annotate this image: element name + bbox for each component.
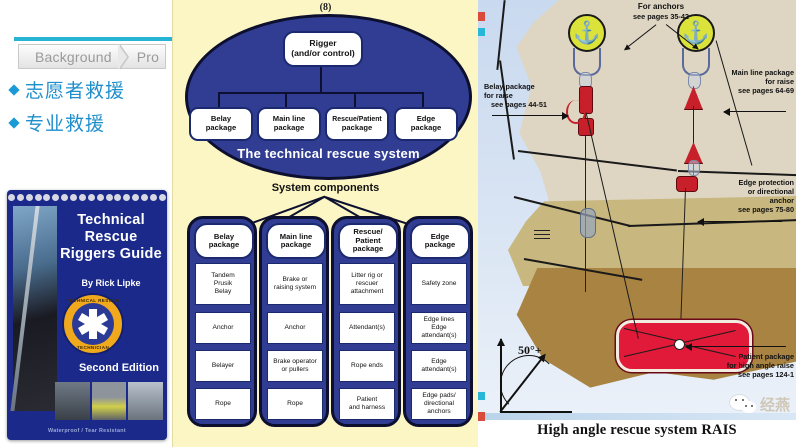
caption-band: High angle rescue system RAIS xyxy=(478,413,796,447)
column-rescue-patient-package: Rescue/ Patient package Litter rig orres… xyxy=(331,216,401,427)
cell: Brake operatoror pullers xyxy=(267,350,323,382)
angle-indicator: 50°+ xyxy=(484,333,576,419)
connector-line xyxy=(218,92,424,94)
cell: Anchor xyxy=(195,312,251,344)
anchor-icon: ⚓ xyxy=(568,14,606,52)
column-head: Belay package xyxy=(194,223,254,259)
color-chip-red xyxy=(478,412,485,421)
badge-bottom-text: TECHNICIAN xyxy=(64,345,122,350)
cell: Rope ends xyxy=(339,350,395,382)
list-item: 志愿者救援 xyxy=(10,76,172,103)
book-cover-image: Technical Rescue Riggers Guide By Rick L… xyxy=(7,190,167,440)
connector-line xyxy=(422,92,424,107)
diamond-bullet-icon xyxy=(8,117,19,128)
book-title-line1: Technical xyxy=(59,212,163,229)
technical-rescue-system-oval: Rigger (and/or control) Belay package Ma… xyxy=(185,14,472,180)
spiral-binding-icon xyxy=(7,192,167,202)
figure-number: (8) xyxy=(173,2,478,13)
cell: Patientand harness xyxy=(339,388,395,420)
wechat-icon xyxy=(730,395,756,414)
cell: Anchor xyxy=(267,312,323,344)
column-head: Main line package xyxy=(266,223,326,259)
node-edge-package: Edge package xyxy=(394,107,458,141)
column-edge-package: Edge package Safety zone Edge linesEdgea… xyxy=(403,216,473,427)
column-head: Edge package xyxy=(410,223,470,259)
node-belay-package: Belay package xyxy=(189,107,253,141)
oval-caption: The technical rescue system xyxy=(188,146,469,161)
diamond-bullet-icon xyxy=(8,84,19,95)
cell: TandemPrusikBelay xyxy=(195,263,251,305)
directional-anchor-icon xyxy=(534,228,550,242)
belay-arrow xyxy=(492,115,568,116)
breadcrumb-label-pro: Pro xyxy=(137,49,159,65)
star-of-life-icon xyxy=(78,309,108,339)
cell: Safety zone xyxy=(411,263,467,305)
main-line-arrow xyxy=(724,111,786,112)
column-head-line3: package xyxy=(353,245,383,254)
breadcrumb-item-background[interactable]: Background xyxy=(18,44,118,69)
label-edge-protection: Edge protection or directional anchor se… xyxy=(684,178,794,214)
bullet-list: 志愿者救援 专业救援 xyxy=(10,76,172,142)
node-label-line2: package xyxy=(206,124,236,133)
belay-rope xyxy=(585,112,586,292)
cell: Rope xyxy=(267,388,323,420)
node-rigger-line2: (and/or control) xyxy=(291,49,355,59)
color-chip-blue xyxy=(478,28,485,36)
book-author: By Rick Lipke xyxy=(59,278,163,288)
connector-line xyxy=(218,92,220,107)
patient-arrow xyxy=(686,346,786,347)
book-footer-text: Waterproof / Tear Resistant xyxy=(7,428,167,434)
book-edition: Second Edition xyxy=(79,362,159,374)
cell: Brake orraising system xyxy=(267,263,323,305)
bullet-text: 志愿者救援 xyxy=(25,76,125,103)
connector-line xyxy=(320,63,322,93)
cell: Edgeattendant(s) xyxy=(411,350,467,382)
connector-line xyxy=(285,92,287,107)
breadcrumb-label-background: Background xyxy=(35,49,112,65)
node-label-line2: package xyxy=(273,124,306,133)
book-cover-photo-left xyxy=(13,206,57,411)
column-main-line-package: Main line package Brake orraising system… xyxy=(259,216,329,427)
node-rescue-patient-package: Rescue/Patient package xyxy=(325,107,389,141)
label-main-line-package: Main line package for raise see pages 64… xyxy=(674,68,794,95)
edge-arrow xyxy=(698,221,782,222)
column-head-line2: package xyxy=(209,241,239,250)
book-title-line2: Rescue xyxy=(59,229,163,246)
book-title: Technical Rescue Riggers Guide xyxy=(59,212,163,263)
label-belay-package: Belay package for raise see pages 44-51 xyxy=(484,82,580,109)
column-belay-package: Belay package TandemPrusikBelay Anchor B… xyxy=(187,216,257,427)
left-slide-panel: Background Pro 志愿者救援 专业救援 xyxy=(0,0,172,447)
angle-arc xyxy=(500,355,558,413)
label-anchors: For anchors see pages 35-42 xyxy=(606,2,716,21)
edge-roller-icon xyxy=(580,208,596,238)
column-head-line2: package xyxy=(425,241,455,250)
rescue-system-diagram-panel: (8) Rigger (and/or control) Belay packag xyxy=(172,0,479,447)
bullet-text: 专业救援 xyxy=(25,109,105,136)
cell: Attendant(s) xyxy=(339,312,395,344)
node-label-line2: package xyxy=(411,124,441,133)
breadcrumb: Background Pro xyxy=(18,44,166,69)
cell: Edge pads/directionalanchors xyxy=(411,388,467,420)
list-item: 专业救援 xyxy=(10,109,172,136)
wechat-watermark: 经燕 xyxy=(730,394,790,415)
connector-line xyxy=(354,92,356,107)
cell: Rope xyxy=(195,388,251,420)
high-angle-rescue-illustration: ⚓ ⚓ For anchors xyxy=(478,0,796,447)
cell: Edge linesEdgeattendant(s) xyxy=(411,312,467,344)
system-components-title: System components xyxy=(173,182,478,194)
technical-rescue-badge-icon: TECHNICAL RESCUE TECHNICIAN xyxy=(62,293,124,355)
chevron-right-icon xyxy=(118,44,127,70)
accent-bar xyxy=(14,37,172,41)
node-main-line-package: Main line package xyxy=(257,107,321,141)
color-chip-red xyxy=(478,12,485,21)
illustration-caption: High angle rescue system RAIS xyxy=(478,422,796,439)
angle-value: 50°+ xyxy=(518,343,542,358)
slide-screenshot: Background Pro 志愿者救援 专业救援 xyxy=(0,0,796,447)
label-patient-package: Patient package for high angle raise see… xyxy=(676,352,794,379)
column-head: Rescue/ Patient package xyxy=(338,223,398,259)
book-cover-photo-strip xyxy=(55,382,163,420)
bridle-hub xyxy=(674,339,685,350)
node-label-line2: package xyxy=(332,124,381,133)
badge-inner xyxy=(72,303,114,345)
book-title-line3: Riggers Guide xyxy=(59,246,163,263)
cell: Belayer xyxy=(195,350,251,382)
cell: Litter rig orrescuerattachment xyxy=(339,263,395,305)
node-rigger: Rigger (and/or control) xyxy=(283,31,363,67)
color-chip-blue xyxy=(478,392,485,400)
carabiner-icon xyxy=(688,160,700,176)
column-head-line2: package xyxy=(280,241,313,250)
wechat-account-name: 经燕 xyxy=(760,394,790,415)
